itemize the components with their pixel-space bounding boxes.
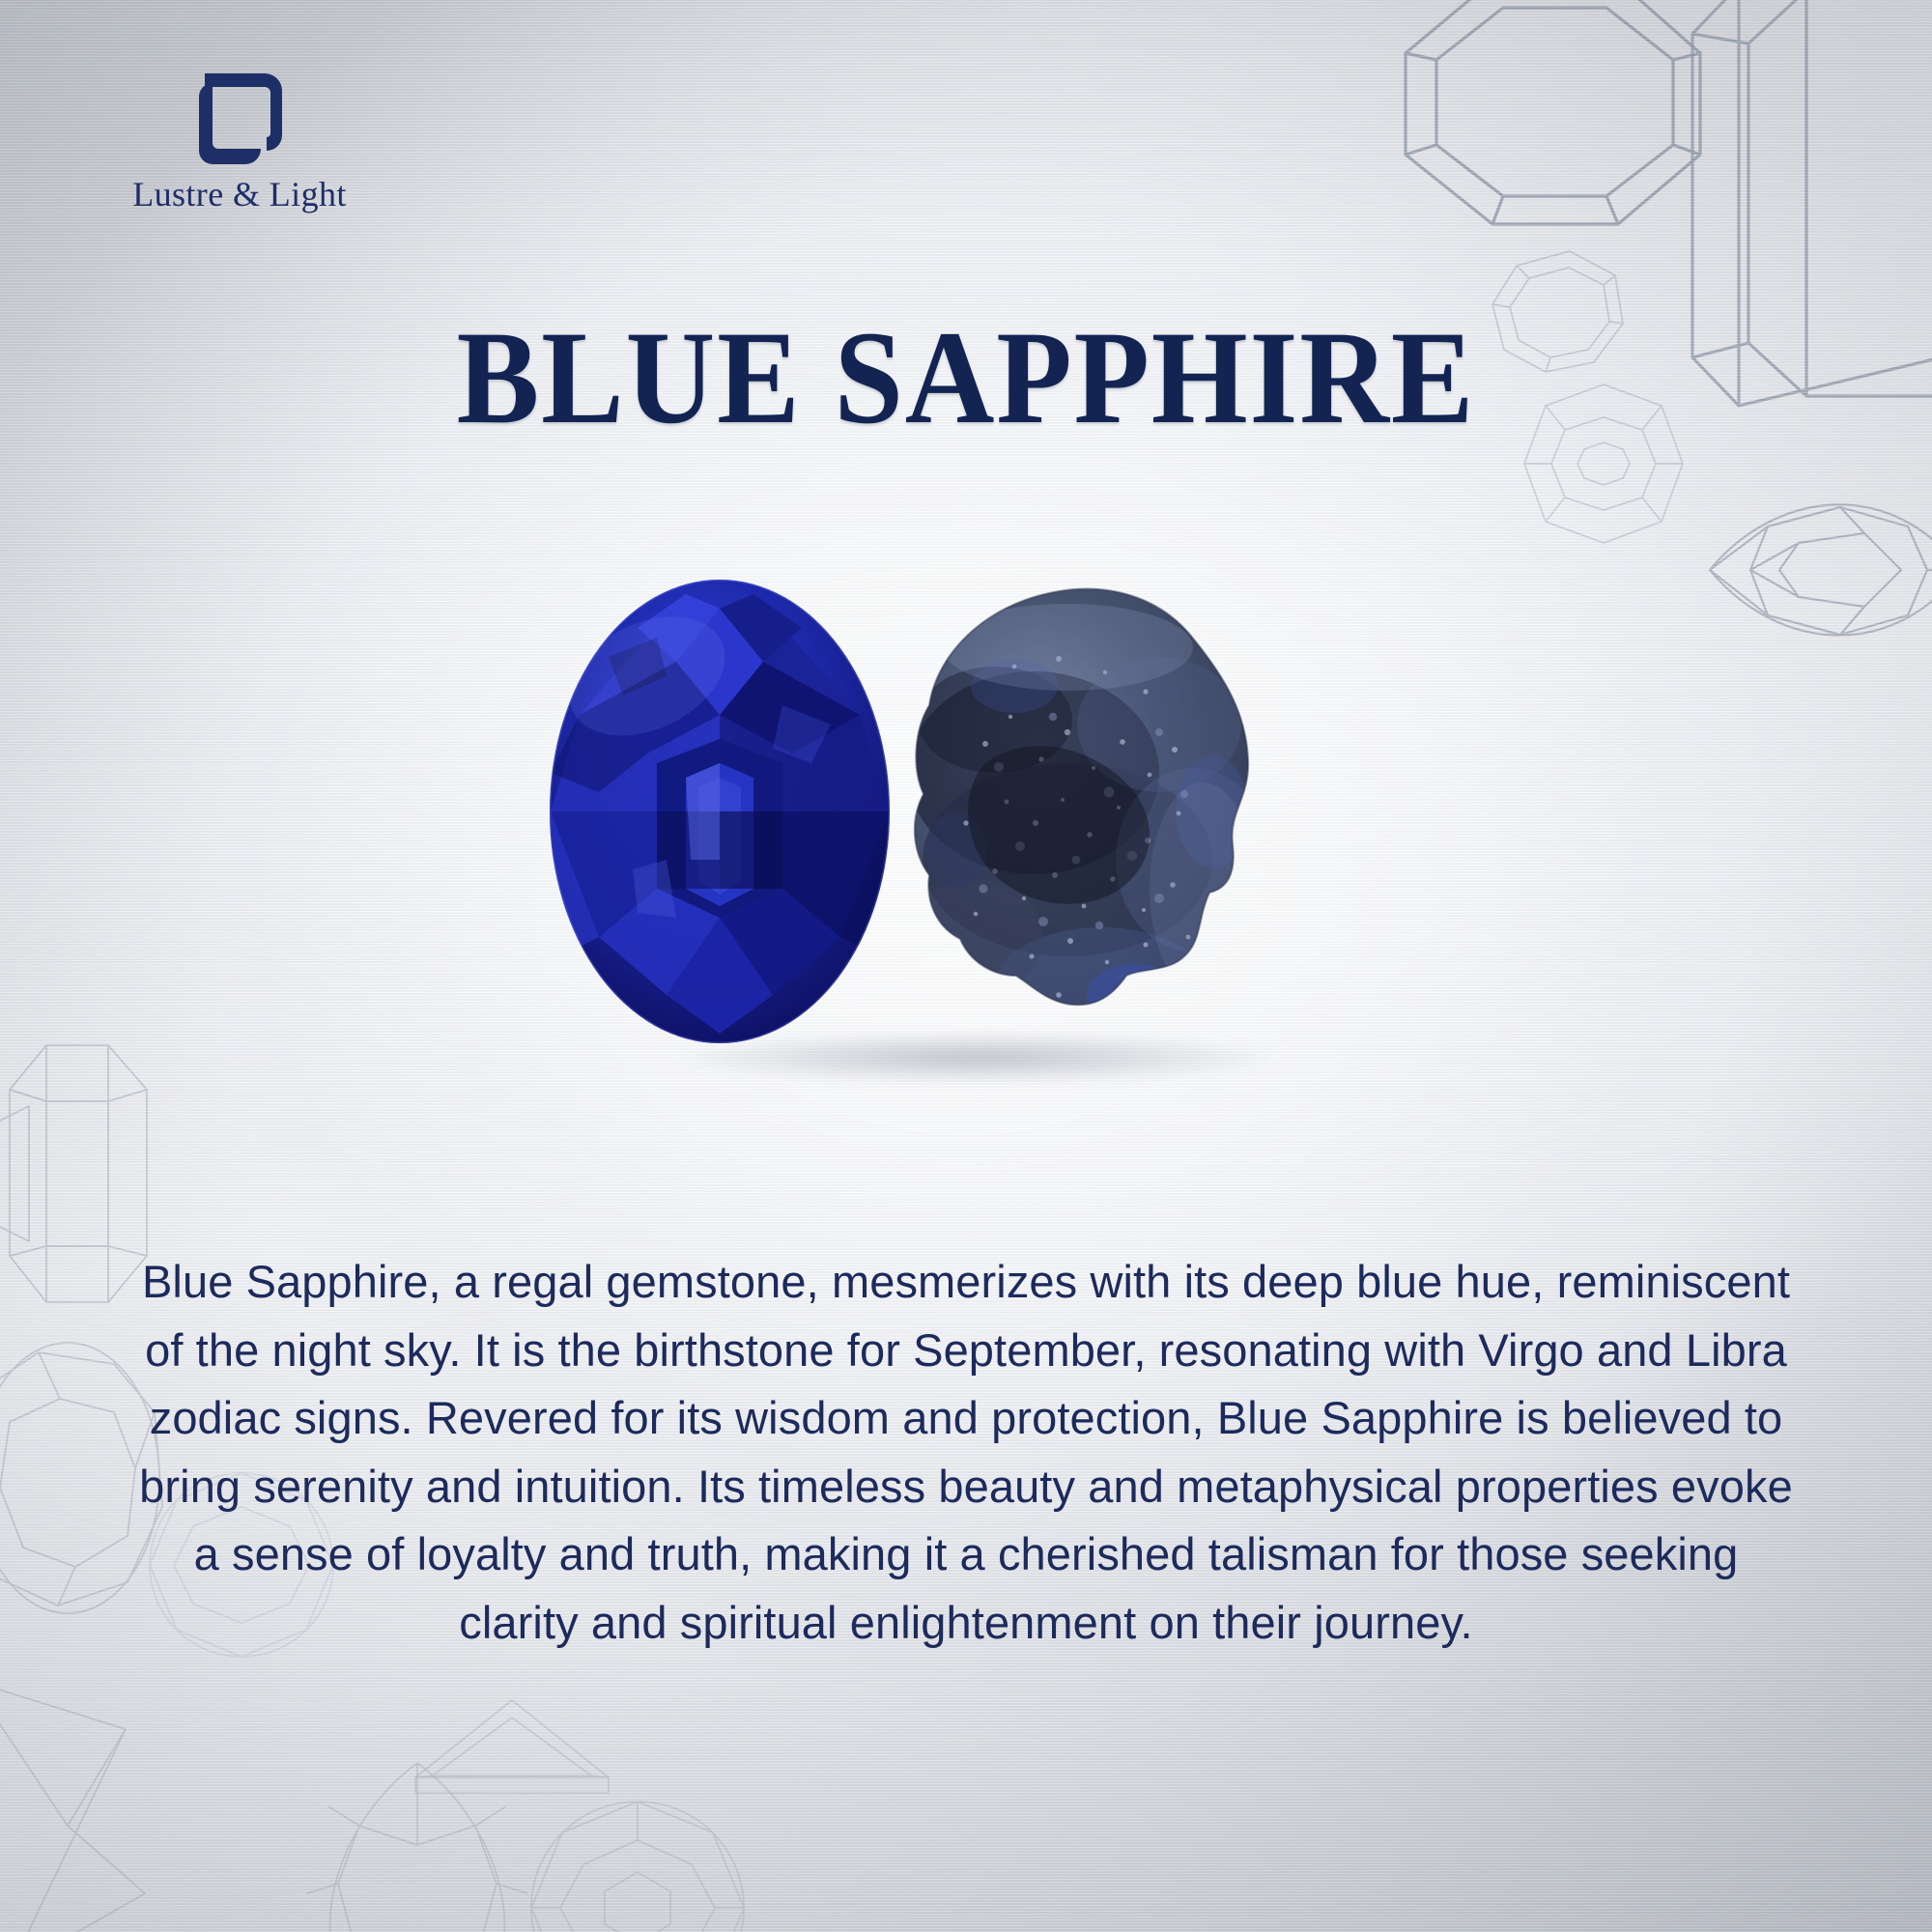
brand-name: Lustre & Light [124, 174, 355, 214]
bracket-gem-logo-icon [193, 66, 286, 168]
poster-canvas: Lustre & Light BLUE SAPPHIRE [0, 0, 1932, 1932]
baguette-crystal-outline-icon [0, 1045, 147, 1302]
round-brilliant-gem-outline-bottom-icon [531, 1802, 744, 1932]
triangle-cut-gem-outline-icon [415, 1700, 609, 1793]
brand-logo: Lustre & Light [124, 66, 355, 214]
trillion-cut-gem-outline-icon [0, 1681, 145, 1932]
oval-cut-sapphire-gemstone-icon [541, 570, 898, 1053]
octagon-cut-gem-outline-icon [1406, 0, 1700, 224]
rough-sapphire-crystal-icon [869, 570, 1275, 1053]
pear-cut-gem-outline-icon [307, 1763, 527, 1932]
marquise-cut-gem-outline-icon [1710, 504, 1932, 635]
page-title: BLUE SAPPHIRE [68, 311, 1864, 444]
gemstone-hero-images [541, 570, 1391, 1111]
description-paragraph: Blue Sapphire, a regal gemstone, mesmeri… [135, 1248, 1797, 1657]
